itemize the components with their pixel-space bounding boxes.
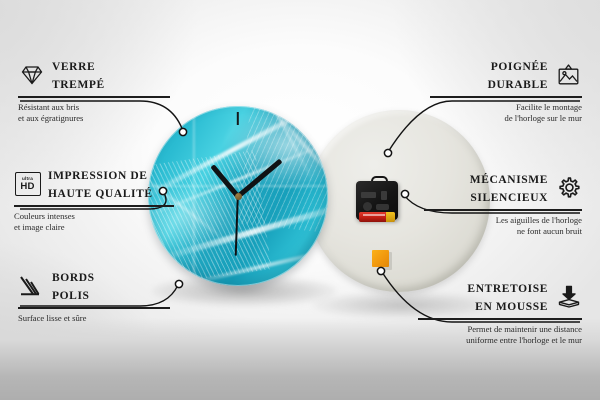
callout-entretoise-en-mousse: ENTRETOISE EN MOUSSE Permet de maintenir… <box>418 279 582 345</box>
callout-desc-line-1: Facilite le montage <box>430 102 582 113</box>
callout-title: BORDS POLIS <box>52 268 95 304</box>
clock-glass-rim <box>148 106 328 286</box>
callout-desc-line-1: Surface lisse et sûre <box>18 313 170 324</box>
foam-spacer <box>372 250 389 267</box>
mechanism-detail-top-right <box>381 191 387 200</box>
callout-divider <box>14 205 174 207</box>
callout-poignee-durable: POIGNÉE DURABLE Facilite le montage de l… <box>430 57 582 123</box>
callout-mecanisme-silencieux: MÉCANISME SILENCIEUX Les aiguilles de l'… <box>424 170 582 236</box>
callout-desc-line-1: Permet de maintenir une distance <box>418 324 582 335</box>
hd-badge-large-text: HD <box>20 182 34 192</box>
callout-header: ultra HD IMPRESSION DE HAUTE QUALITÉ <box>14 166 174 202</box>
callout-bords-polis: BORDS POLIS Surface lisse et sûre <box>18 268 170 324</box>
callout-divider <box>430 96 582 98</box>
battery-positive-band <box>386 212 395 222</box>
callout-divider <box>424 209 582 211</box>
callout-title: IMPRESSION DE HAUTE QUALITÉ <box>48 166 153 202</box>
callout-header: MÉCANISME SILENCIEUX <box>424 170 582 206</box>
wall-hanger-frame-icon <box>555 62 582 89</box>
mechanism-detail-slot <box>376 204 389 210</box>
callout-header: BORDS POLIS <box>18 268 170 304</box>
callout-desc-line-2: de l'horloge sur le mur <box>430 113 582 124</box>
callout-impression-haute-qualite: ultra HD IMPRESSION DE HAUTE QUALITÉ Cou… <box>14 166 174 232</box>
mechanism-detail-dial <box>363 202 372 211</box>
callout-desc-line-2: ne font aucun bruit <box>424 226 582 237</box>
infographic-stage: VERRE TREMPÉ Résistant aux bris et aux é… <box>0 0 600 400</box>
hd-badge-box: ultra HD <box>15 172 41 196</box>
mechanism-detail-top-left <box>361 192 376 198</box>
callout-divider <box>18 307 170 309</box>
callout-divider <box>18 96 170 98</box>
callout-header: VERRE TREMPÉ <box>18 57 170 93</box>
callout-desc-line-1: Résistant aux bris <box>18 102 170 113</box>
foam-spacer-icon <box>555 284 582 311</box>
callout-title: ENTRETOISE EN MOUSSE <box>467 279 548 315</box>
callout-header: ENTRETOISE EN MOUSSE <box>418 279 582 315</box>
polished-edges-icon <box>18 273 45 300</box>
callout-desc-line-2: et aux égratignures <box>18 113 170 124</box>
clock-mechanism <box>356 176 398 220</box>
gear-icon <box>555 175 582 202</box>
callout-desc-line-1: Couleurs intenses <box>14 211 174 222</box>
battery-label-stripe <box>363 214 385 216</box>
mechanism-body <box>356 181 398 220</box>
callout-desc-line-2: et image claire <box>14 222 174 233</box>
ultra-hd-badge-icon: ultra HD <box>14 171 41 198</box>
clock-face-front <box>148 106 328 286</box>
callout-desc-line-2: uniforme entre l'horloge et le mur <box>418 335 582 346</box>
diamond-icon <box>18 62 45 89</box>
callout-title: VERRE TREMPÉ <box>52 57 105 93</box>
callout-desc-line-1: Les aiguilles de l'horloge <box>424 215 582 226</box>
battery <box>359 212 395 222</box>
callout-divider <box>418 318 582 320</box>
callout-verre-trempe: VERRE TREMPÉ Résistant aux bris et aux é… <box>18 57 170 123</box>
callout-title: POIGNÉE DURABLE <box>488 57 548 93</box>
callout-title: MÉCANISME SILENCIEUX <box>470 170 548 206</box>
callout-header: POIGNÉE DURABLE <box>430 57 582 93</box>
